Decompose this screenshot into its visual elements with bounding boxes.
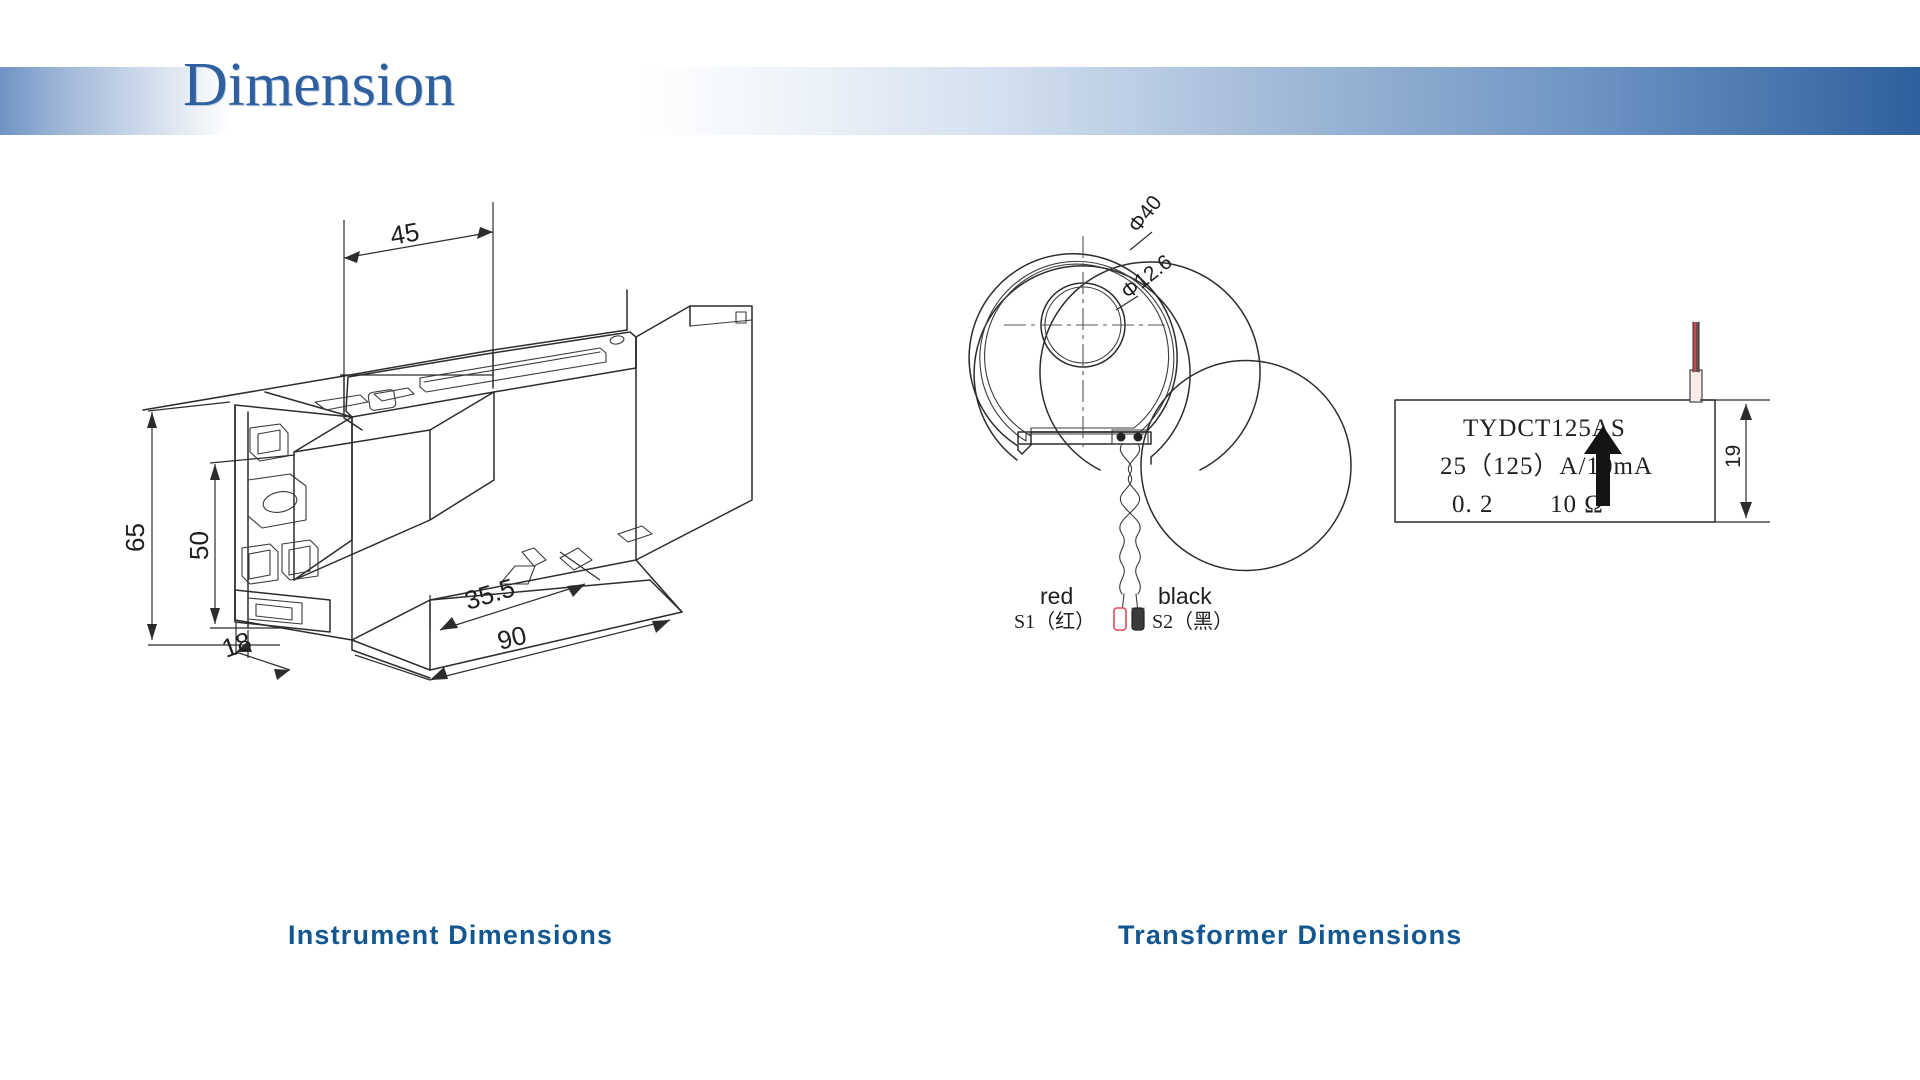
dimension-label-50: 50	[184, 531, 214, 560]
wire-label-red: red	[1040, 583, 1073, 609]
page-title: Dimension	[183, 50, 455, 121]
ct-side-view: TYDCT125AS 25（125）A/10mA 0. 2 10 Ω 19	[1395, 322, 1770, 522]
dimension-35-5: 35.5	[430, 552, 600, 630]
caption-instrument-dimensions: Instrument Dimensions	[288, 920, 613, 951]
wire-terminal-s2: S2（黑）	[1152, 610, 1233, 633]
nameplate-burden: 10 Ω	[1550, 491, 1604, 518]
wire-terminal-s1: S1（红）	[1014, 610, 1095, 633]
transformer-dimension-drawing: Φ40 Φ12.6 red black S1（红） S2（黑）	[900, 210, 1840, 830]
caption-transformer-dimensions: Transformer Dimensions	[1118, 920, 1463, 951]
dimension-label-phi40: Φ40	[1124, 191, 1167, 237]
dimension-45: 45	[340, 202, 493, 375]
dimension-50: 50	[184, 455, 295, 628]
dimension-18: 18	[218, 622, 290, 680]
dimension-label-90: 90	[494, 620, 529, 656]
dimension-label-45: 45	[388, 216, 422, 251]
ct-front-view: Φ40 Φ12.6 red black S1（红） S2（黑）	[969, 191, 1351, 633]
dimension-label-18: 18	[218, 626, 255, 664]
dimension-90: 90	[355, 620, 670, 680]
lead-wire	[1690, 322, 1702, 402]
dimension-label-35-5: 35.5	[461, 572, 518, 615]
instrument-dimension-drawing: 45	[130, 180, 850, 820]
nameplate-accuracy: 0. 2	[1452, 491, 1494, 518]
dimension-label-65: 65	[120, 523, 150, 552]
nameplate-rating: 25（125）A/10mA	[1440, 452, 1653, 480]
dimension-19: 19	[1700, 400, 1770, 522]
wire-label-black: black	[1158, 583, 1212, 609]
dimension-label-19: 19	[1722, 445, 1745, 468]
instrument-body-outline	[143, 290, 752, 678]
twisted-pair-wire	[1114, 444, 1144, 630]
